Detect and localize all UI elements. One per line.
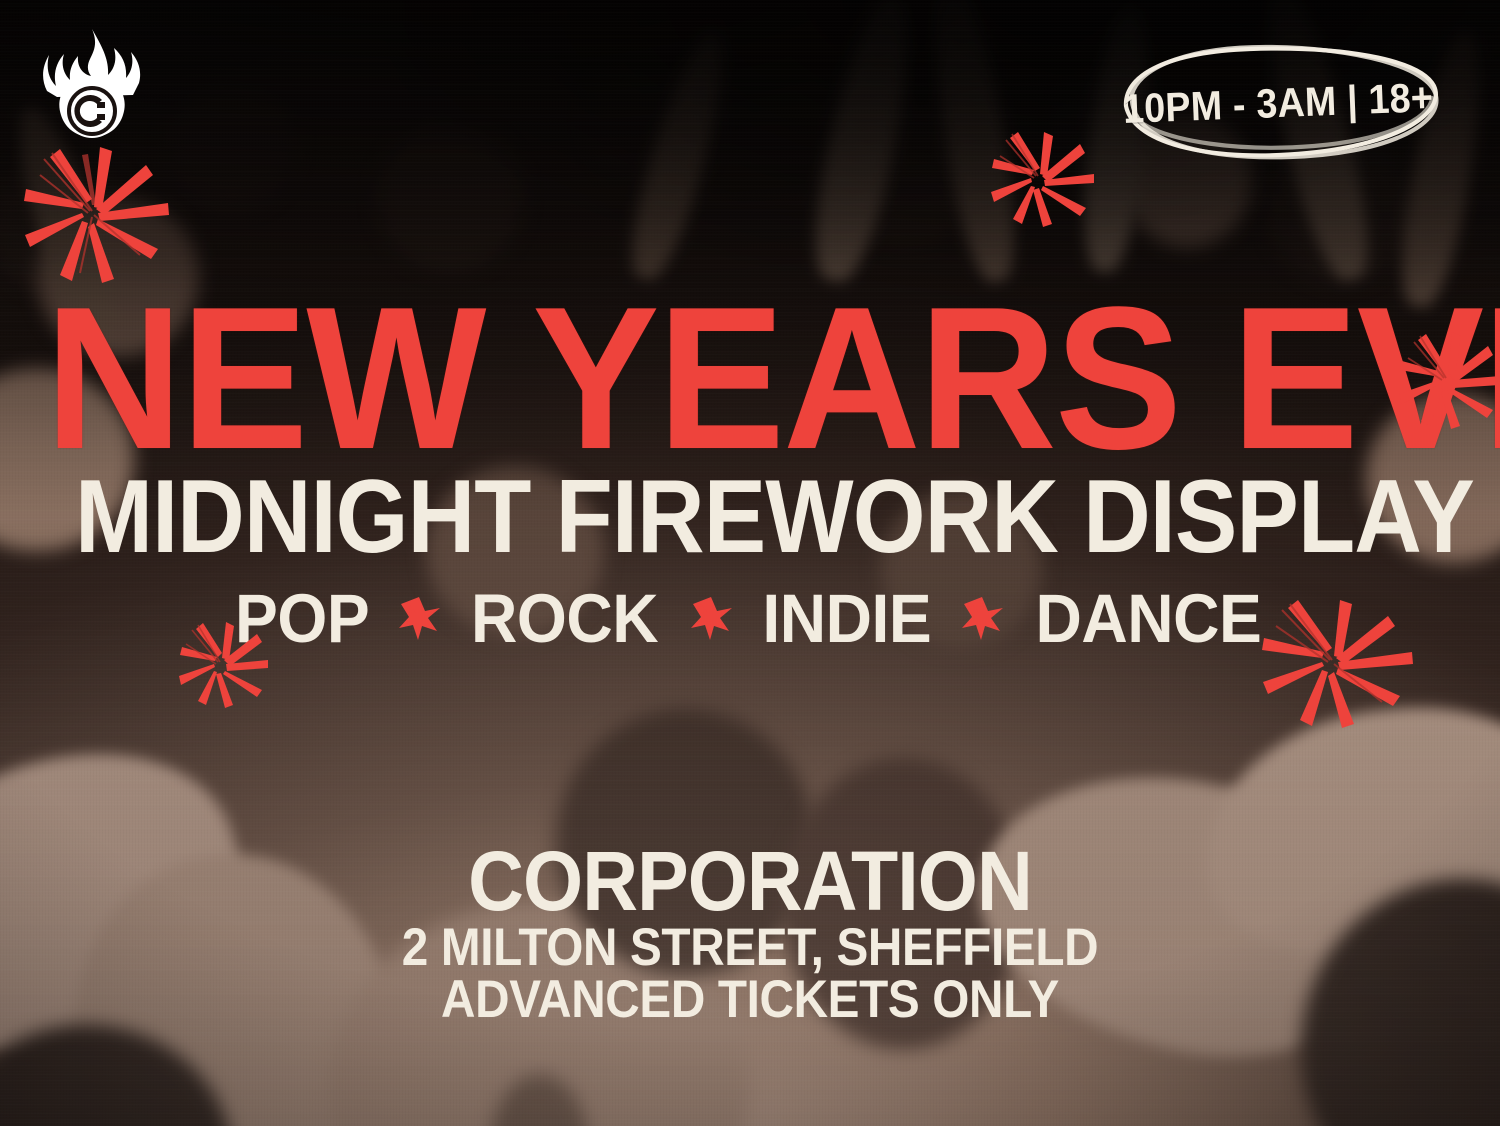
headline-block: NEW YEARS EVE MIDNIGHT FIREWORK DISPLAY … (0, 300, 1500, 653)
event-poster: 10PM - 3AM | 18+ NEW YEARS EVE MIDNIGHT … (0, 0, 1500, 1126)
venue-block: CORPORATION 2 MILTON STREET, SHEFFIELD A… (0, 845, 1500, 1025)
firework-starburst-icon (22, 145, 172, 285)
red-star-burst-icon (688, 595, 734, 641)
firework-decoration (22, 145, 172, 285)
genre-item: ROCK (471, 584, 658, 653)
flame-c-logo-icon (36, 26, 148, 144)
time-age-badge: 10PM - 3AM | 18+ (1100, 36, 1456, 170)
venue-name: CORPORATION (60, 845, 1440, 919)
firework-decoration (988, 128, 1096, 230)
red-star-burst-icon (396, 595, 442, 641)
red-star-burst-icon (959, 595, 1005, 641)
genre-item: INDIE (762, 584, 931, 653)
poster-subtitle: MIDNIGHT FIREWORK DISPLAY (75, 474, 1425, 561)
poster-content: 10PM - 3AM | 18+ NEW YEARS EVE MIDNIGHT … (0, 0, 1500, 1126)
genre-list: POP ROCK INDIE DANCE (0, 584, 1500, 653)
venue-address: 2 MILTON STREET, SHEFFIELD (75, 923, 1425, 973)
ticket-note: ADVANCED TICKETS ONLY (75, 975, 1425, 1025)
firework-starburst-icon (988, 128, 1096, 230)
time-badge-text: 10PM - 3AM | 18+ (1112, 30, 1444, 176)
genre-item: DANCE (1036, 584, 1262, 653)
corporation-logo[interactable] (36, 26, 148, 144)
genre-item: POP (235, 584, 369, 653)
poster-title: NEW YEARS EVE (45, 300, 1455, 458)
